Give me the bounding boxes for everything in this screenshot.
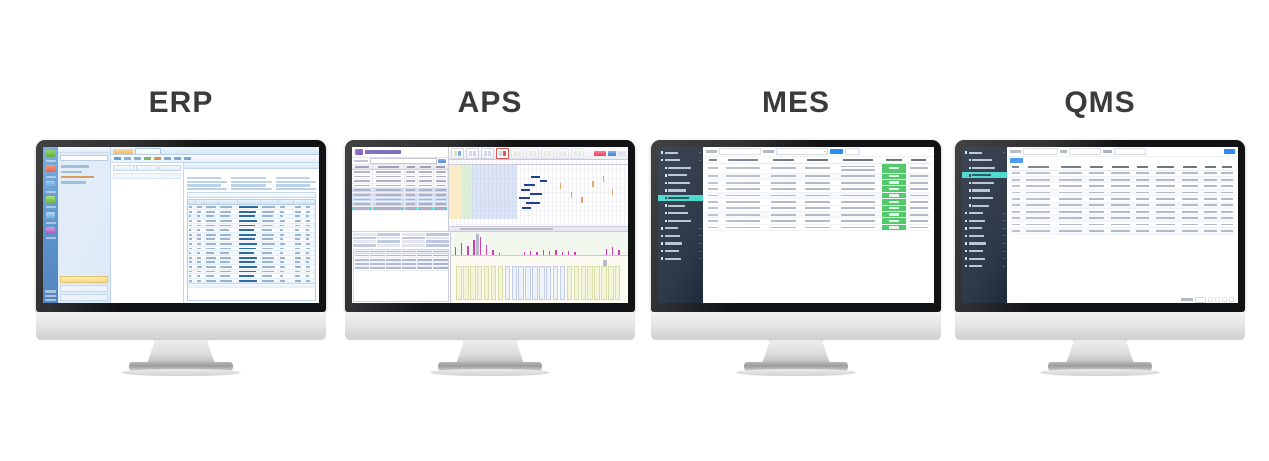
resource-column[interactable] <box>539 266 544 300</box>
menu-icon <box>965 265 967 267</box>
data-grid[interactable] <box>187 199 316 301</box>
screen-mes[interactable] <box>658 147 934 303</box>
table-cell <box>1107 172 1134 174</box>
column-header[interactable] <box>205 200 219 204</box>
table-cell <box>306 274 315 278</box>
gantt-marker[interactable] <box>612 189 613 195</box>
purchase-app-icon[interactable] <box>46 212 55 219</box>
erp-workspace <box>111 163 319 303</box>
resource-column[interactable] <box>594 266 599 300</box>
menu-icon <box>969 167 971 169</box>
column-header[interactable] <box>1134 166 1152 168</box>
column-header[interactable] <box>1219 166 1235 168</box>
resource-column[interactable] <box>567 266 572 300</box>
table-cell <box>801 182 835 184</box>
column-header[interactable] <box>834 159 881 161</box>
tab-item[interactable] <box>113 149 133 155</box>
table-row[interactable] <box>354 267 448 271</box>
tertiary-action-button[interactable] <box>617 151 626 156</box>
sidebar-item-label <box>969 212 983 214</box>
toolbar-card[interactable] <box>511 148 524 159</box>
mes-table[interactable] <box>703 157 934 303</box>
resource-column[interactable] <box>477 266 482 300</box>
table-cell <box>706 195 720 197</box>
search-button[interactable] <box>830 149 843 154</box>
toolbar-card[interactable] <box>541 148 554 159</box>
page-button[interactable] <box>1215 297 1220 302</box>
form-field[interactable] <box>187 188 227 190</box>
resource-column[interactable] <box>560 266 565 300</box>
toolbar-card[interactable] <box>571 148 584 159</box>
sidebar-item-label <box>665 159 680 161</box>
table-cell <box>219 228 238 232</box>
form-field[interactable] <box>231 188 271 190</box>
status-badge[interactable] <box>882 180 907 185</box>
resource-column[interactable] <box>615 266 620 300</box>
resource-column[interactable] <box>581 266 586 300</box>
gantt-task-bar[interactable] <box>519 197 530 199</box>
filter-label <box>763 150 774 152</box>
footer-item[interactable] <box>45 299 56 301</box>
sidebar-item-label <box>969 258 985 260</box>
column-header[interactable] <box>1152 166 1179 168</box>
screen-qms[interactable] <box>962 147 1238 303</box>
table-cell <box>261 274 279 278</box>
table-cell <box>219 274 238 278</box>
histogram-selection[interactable] <box>476 234 479 255</box>
status-badge[interactable] <box>882 218 907 223</box>
sidebar-item-active[interactable] <box>658 195 703 201</box>
sidebar-item-0[interactable] <box>658 150 703 156</box>
nav-footer-button[interactable] <box>60 294 108 301</box>
table-cell <box>1010 224 1021 226</box>
sidebar-item-label <box>969 235 984 237</box>
sidebar-item-10[interactable] <box>962 225 1007 231</box>
table-cell <box>188 256 196 260</box>
status-badge[interactable] <box>882 212 907 217</box>
orders-app-icon[interactable] <box>46 165 55 172</box>
table-cell <box>261 251 279 255</box>
table-cell <box>434 202 448 206</box>
toolbar-button[interactable] <box>124 157 131 160</box>
table-cell <box>1055 172 1087 174</box>
monitor-mes: MES <box>651 88 941 340</box>
gantt-task-bar[interactable] <box>524 184 535 186</box>
finance-app-icon[interactable] <box>46 196 55 203</box>
form-field[interactable] <box>187 184 221 186</box>
table-row[interactable] <box>706 225 931 231</box>
secondary-action-button[interactable] <box>608 151 616 156</box>
resource-column[interactable] <box>553 266 558 300</box>
column-header[interactable] <box>906 159 931 161</box>
table-cell <box>373 170 405 174</box>
mes-filter-bar <box>703 147 934 157</box>
chevron-down-icon <box>1003 266 1005 267</box>
table-cell <box>279 205 294 209</box>
table-cell <box>196 215 205 219</box>
column-header <box>352 165 373 169</box>
sidebar-item-label <box>665 235 680 237</box>
status-badge[interactable] <box>882 186 907 191</box>
sidebar-item-9[interactable] <box>962 218 1007 224</box>
resource-column[interactable] <box>587 266 592 300</box>
column-header[interactable] <box>238 200 261 204</box>
table-cell <box>261 256 279 260</box>
column-header[interactable] <box>767 159 801 161</box>
table-cell <box>1179 217 1202 219</box>
gantt-marker[interactable] <box>603 176 604 182</box>
screen-erp[interactable] <box>43 147 319 303</box>
table-row-selected[interactable] <box>352 207 448 212</box>
monitor-chin-qms <box>955 312 1245 340</box>
table-cell <box>1087 179 1107 181</box>
histogram-bar <box>473 240 474 255</box>
gantt-task-bar[interactable] <box>530 193 543 195</box>
aps-order-table[interactable] <box>352 165 448 231</box>
column-header[interactable] <box>1055 166 1087 168</box>
resource-column[interactable] <box>491 266 496 300</box>
column-header[interactable] <box>720 159 767 161</box>
gantt-task-bar[interactable] <box>540 180 547 182</box>
column-header[interactable] <box>1010 166 1021 168</box>
table-cell <box>720 201 767 203</box>
table-cell <box>1201 179 1219 181</box>
toolbar-button[interactable] <box>164 157 171 160</box>
table-cell <box>720 188 767 190</box>
sidebar-item-11[interactable] <box>658 233 703 239</box>
table-cell <box>1134 204 1152 206</box>
resource-column[interactable] <box>456 266 461 300</box>
column-header[interactable] <box>294 200 306 204</box>
filter-label <box>706 150 717 152</box>
inventory-app-icon[interactable] <box>46 150 55 157</box>
table-cell <box>434 179 448 183</box>
resource-capacity-chart[interactable] <box>451 256 628 303</box>
table-cell <box>1219 217 1235 219</box>
table-cell <box>373 184 405 188</box>
sidebar-item-2[interactable] <box>962 165 1007 171</box>
form-field[interactable] <box>276 181 316 183</box>
status-badge[interactable] <box>882 206 907 211</box>
histogram-bar <box>486 245 487 255</box>
toolbar-button[interactable] <box>184 157 191 160</box>
table-cell <box>706 188 720 190</box>
gantt-task-bar[interactable] <box>521 189 530 191</box>
table-cell <box>1010 217 1021 219</box>
gantt-chart[interactable] <box>449 165 628 226</box>
table-row[interactable] <box>706 164 931 174</box>
table-cell <box>219 256 238 260</box>
column-header[interactable] <box>1201 166 1219 168</box>
toolbar-card[interactable] <box>481 148 494 159</box>
resource-column[interactable] <box>518 266 523 300</box>
histogram-bar <box>612 247 613 255</box>
resource-column[interactable] <box>546 266 551 300</box>
tree-item[interactable] <box>61 171 82 174</box>
resource-column[interactable] <box>574 266 579 300</box>
process-select[interactable] <box>776 148 828 155</box>
table-cell <box>188 242 196 246</box>
sidebar-item-1[interactable] <box>962 157 1007 163</box>
reports-app-icon[interactable] <box>46 181 55 188</box>
menu-icon <box>965 257 967 259</box>
resource-column[interactable] <box>532 266 537 300</box>
resource-column[interactable] <box>505 266 510 300</box>
grid-toolbar[interactable] <box>187 192 316 198</box>
table-cell <box>196 270 205 274</box>
erp-toolbar <box>111 155 319 163</box>
tree-item[interactable] <box>61 165 89 168</box>
sidebar-item-9[interactable] <box>658 218 703 224</box>
order-number-input[interactable] <box>719 148 761 155</box>
table-cell <box>205 256 219 260</box>
column-header[interactable] <box>882 159 907 161</box>
footer-item[interactable] <box>45 295 56 297</box>
sidebar-item-7[interactable] <box>962 203 1007 209</box>
column-header[interactable] <box>306 200 315 204</box>
model-input[interactable] <box>1069 148 1101 155</box>
table-cell <box>767 207 801 209</box>
aps-detail-table[interactable] <box>353 249 449 302</box>
page-prev-button[interactable] <box>1208 297 1213 302</box>
filter-input[interactable] <box>370 158 437 164</box>
table-cell <box>279 210 294 214</box>
table-cell <box>196 205 205 209</box>
table-cell <box>1021 192 1055 194</box>
sidebar-item-0[interactable] <box>962 150 1007 156</box>
table-cell <box>405 175 418 179</box>
table-cell <box>1179 172 1202 174</box>
table-cell <box>1107 217 1134 219</box>
sidebar-item-6[interactable] <box>962 195 1007 201</box>
status-badge[interactable] <box>882 174 907 179</box>
resource-column[interactable] <box>498 266 503 300</box>
sidebar-item-1[interactable] <box>658 157 703 163</box>
sidebar-item-label <box>972 205 989 207</box>
table-cell <box>706 182 720 184</box>
tab-item-active[interactable] <box>135 148 161 155</box>
column-header <box>418 165 434 169</box>
gantt-marker[interactable] <box>592 181 593 187</box>
menu-icon <box>969 189 971 191</box>
table-cell <box>1134 198 1152 200</box>
sidebar-item-10[interactable] <box>658 225 703 231</box>
tree-item[interactable] <box>61 181 86 184</box>
nav-footer-button[interactable] <box>60 285 108 292</box>
resource-column[interactable] <box>484 266 489 300</box>
sidebar-item-5[interactable] <box>962 187 1007 193</box>
resource-column[interactable] <box>525 266 530 300</box>
gantt-scrollbar[interactable] <box>449 226 628 231</box>
table-cell <box>1055 211 1087 213</box>
form-field[interactable] <box>187 177 221 179</box>
resource-column[interactable] <box>512 266 517 300</box>
status-badge[interactable] <box>882 193 907 198</box>
gantt-task-bar[interactable] <box>531 176 540 178</box>
column-header[interactable] <box>196 200 205 204</box>
form-field[interactable] <box>187 181 227 183</box>
table-cell <box>1134 179 1152 181</box>
product-name-input[interactable] <box>1114 148 1146 155</box>
tree-item-selected[interactable] <box>61 176 94 179</box>
monitor-neck <box>147 340 215 364</box>
search-input[interactable] <box>60 155 108 161</box>
toolbar-card[interactable] <box>451 148 464 159</box>
column-header[interactable] <box>188 200 196 204</box>
histogram-bar <box>568 251 569 255</box>
menu-icon <box>969 204 971 206</box>
table-cell <box>279 279 294 283</box>
icon-label <box>46 222 56 224</box>
scrollbar-thumb[interactable] <box>460 228 553 230</box>
add-button[interactable] <box>1010 158 1023 163</box>
table-cell <box>405 188 418 192</box>
gantt-marker[interactable] <box>560 183 561 189</box>
table-cell <box>418 170 434 174</box>
table-row[interactable] <box>1010 228 1235 234</box>
sidebar-item-12[interactable] <box>658 240 703 246</box>
table-cell <box>1201 204 1219 206</box>
list-item[interactable] <box>113 173 181 179</box>
table-cell <box>434 170 448 174</box>
table-cell <box>1179 192 1202 194</box>
footer-item[interactable] <box>45 290 56 292</box>
monitor-body-qms <box>955 140 1245 340</box>
sidebar-item-11[interactable] <box>962 233 1007 239</box>
column-header[interactable] <box>1021 166 1055 168</box>
load-histogram-chart[interactable] <box>451 232 628 256</box>
sidebar-item-12[interactable] <box>962 240 1007 246</box>
sidebar-item-label <box>668 182 690 184</box>
table-cell <box>1219 224 1235 226</box>
search-button[interactable] <box>1224 149 1235 154</box>
resource-column[interactable] <box>470 266 475 300</box>
nav-footer-button-active[interactable] <box>60 276 108 283</box>
column-header[interactable] <box>261 200 279 204</box>
form-field[interactable] <box>276 184 310 186</box>
form-field[interactable] <box>276 188 316 190</box>
sidebar-item-2[interactable] <box>658 165 703 171</box>
sidebar-item-14[interactable] <box>658 256 703 262</box>
table-cell <box>418 179 434 183</box>
gantt-task-bar[interactable] <box>522 207 531 209</box>
gantt-task-bar[interactable] <box>526 202 540 204</box>
table-cell <box>834 166 881 171</box>
toolbar-card-selected[interactable] <box>496 148 509 159</box>
toolbar-button[interactable] <box>144 157 151 160</box>
column-header[interactable] <box>1087 166 1107 168</box>
histogram-bar <box>461 243 462 254</box>
form-field[interactable] <box>231 181 271 183</box>
page-size-select[interactable] <box>1195 297 1206 303</box>
resource-column[interactable] <box>601 266 606 300</box>
gantt-marker[interactable] <box>571 192 572 198</box>
sidebar-item-8[interactable] <box>658 210 703 216</box>
table-cell <box>1021 204 1055 206</box>
screen-aps[interactable] <box>352 147 628 303</box>
column-header[interactable] <box>1107 166 1134 168</box>
table-cell <box>906 207 931 209</box>
column-header[interactable] <box>279 200 294 204</box>
toolbar-button[interactable] <box>154 157 161 160</box>
status-badge[interactable] <box>882 164 907 173</box>
sidebar-item-8[interactable] <box>962 210 1007 216</box>
table-cell <box>294 228 306 232</box>
page-button[interactable] <box>1222 297 1227 302</box>
qms-table[interactable] <box>1007 164 1238 296</box>
sidebar-item-13[interactable] <box>962 248 1007 254</box>
column-header[interactable] <box>219 200 238 204</box>
monitor-foot-base <box>736 369 856 376</box>
status-badge[interactable] <box>882 199 907 204</box>
reset-button[interactable] <box>845 148 860 155</box>
sidebar-item-4[interactable] <box>962 180 1007 186</box>
table-cell <box>219 260 238 264</box>
chevron-down-icon <box>1003 243 1005 244</box>
status-badge[interactable] <box>882 225 907 230</box>
toolbar-card[interactable] <box>526 148 539 159</box>
toolbar-button[interactable] <box>114 157 121 160</box>
histogram-bar <box>618 250 619 255</box>
table-cell <box>352 198 373 202</box>
sidebar-item-7[interactable] <box>658 203 703 209</box>
toolbar-card[interactable] <box>556 148 569 159</box>
settings-app-icon[interactable] <box>46 227 55 234</box>
resource-column[interactable] <box>463 266 468 300</box>
gantt-marker[interactable] <box>581 197 582 203</box>
resource-column[interactable] <box>608 266 613 300</box>
column-header[interactable] <box>1179 166 1202 168</box>
table-cell <box>205 265 219 269</box>
toolbar-card[interactable] <box>466 148 479 159</box>
toolbar-button[interactable] <box>174 157 181 160</box>
column-header[interactable] <box>801 159 835 161</box>
table-cell <box>238 274 261 278</box>
sidebar-item-5[interactable] <box>658 187 703 193</box>
sidebar-item-4[interactable] <box>658 180 703 186</box>
table-cell <box>405 179 418 183</box>
table-cell <box>1087 211 1107 213</box>
sidebar-item-14[interactable] <box>962 256 1007 262</box>
form-field[interactable] <box>231 177 265 179</box>
detail-row <box>353 244 449 247</box>
sidebar-item-3[interactable] <box>658 172 703 178</box>
search-button[interactable] <box>438 159 446 163</box>
erp-icon-bar <box>43 147 58 303</box>
toolbar-button[interactable] <box>134 157 141 160</box>
sidebar-item-13[interactable] <box>658 248 703 254</box>
table-cell <box>834 227 881 229</box>
erp-nav-footer <box>58 274 110 303</box>
form-field[interactable] <box>231 184 265 186</box>
table-cell <box>906 167 931 169</box>
sidebar-item-active[interactable] <box>962 172 1007 178</box>
column-header[interactable] <box>706 159 720 161</box>
table-cell <box>306 238 315 242</box>
order-number-input[interactable] <box>1023 148 1058 155</box>
table-cell <box>1152 224 1179 226</box>
sidebar-item-15[interactable] <box>962 263 1007 269</box>
table-cell <box>1179 179 1202 181</box>
table-cell <box>373 175 405 179</box>
page-next-button[interactable] <box>1229 297 1234 302</box>
table-cell <box>801 175 835 177</box>
table-cell <box>306 256 315 260</box>
form-field[interactable] <box>276 177 310 179</box>
table-cell <box>1107 224 1134 226</box>
primary-action-button[interactable] <box>594 151 606 156</box>
table-cell <box>906 195 931 197</box>
